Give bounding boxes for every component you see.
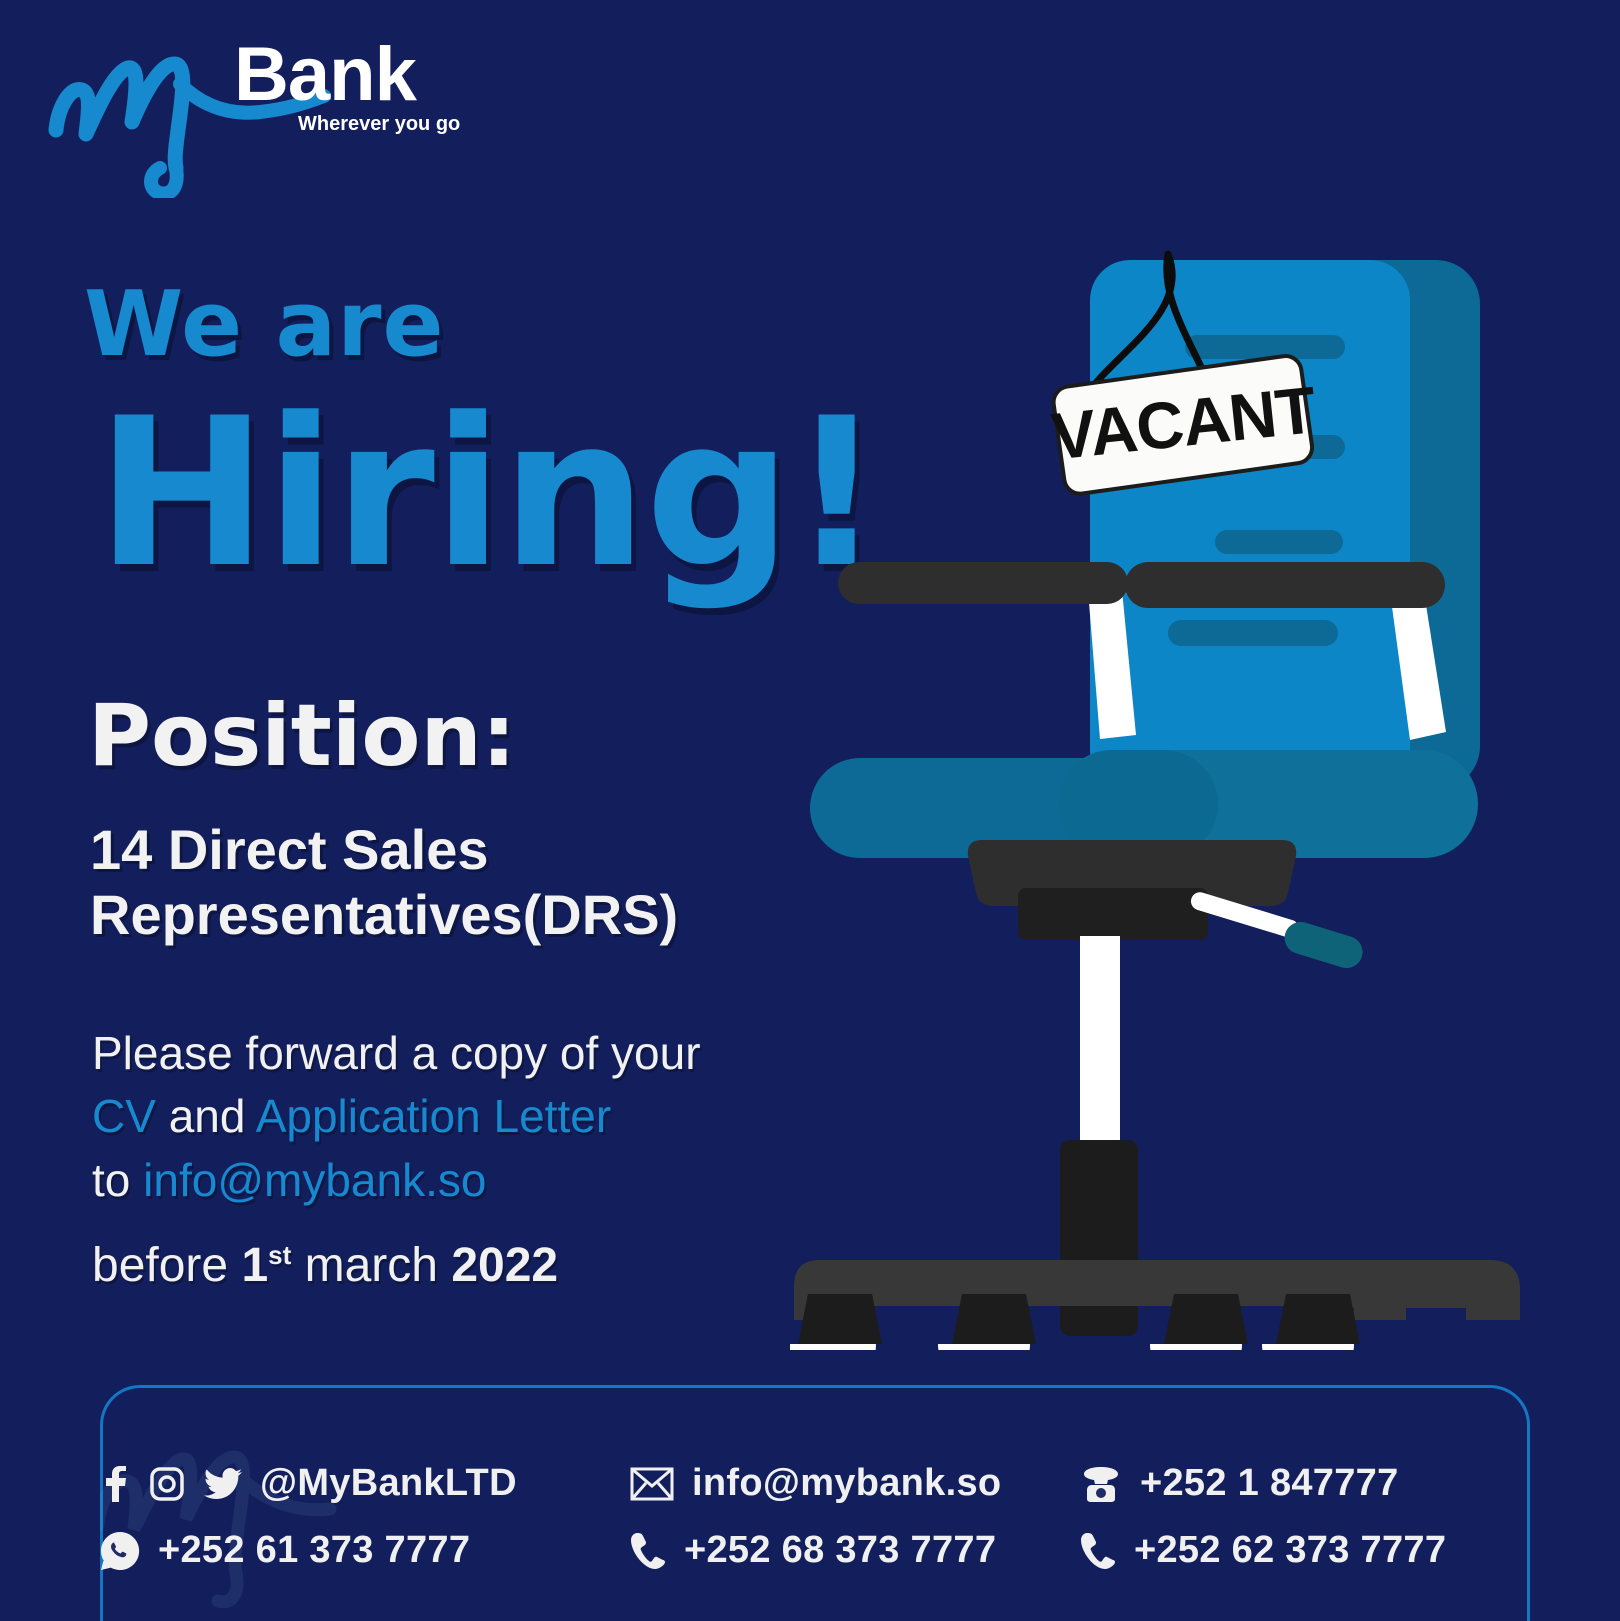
phone-row-2[interactable]: +252 62 373 7777 [1080, 1529, 1530, 1572]
facebook-icon[interactable] [100, 1466, 130, 1502]
chair-cylinder-housing [1060, 1140, 1138, 1336]
and-word: and [169, 1090, 246, 1142]
chair-armrest-right [1125, 562, 1445, 608]
phone-number-1: +252 68 373 7777 [684, 1529, 996, 1572]
chair-mechanism-block [1018, 888, 1208, 940]
desk-phone-row[interactable]: +252 1 847777 [1080, 1462, 1530, 1505]
to-word: to [92, 1154, 130, 1206]
logo-wordmark: Bank [234, 38, 418, 117]
phone-handset-icon[interactable] [1080, 1532, 1116, 1570]
desk-telephone-icon[interactable] [1080, 1465, 1122, 1503]
deadline-text: before 1st march 2022 [92, 1238, 558, 1293]
footer-column-phones: +252 1 847777 +252 62 373 7777 [1040, 1462, 1530, 1572]
office-chair-illustration: VACANT [790, 240, 1570, 1350]
chair-armrest-left [838, 562, 1128, 604]
social-icon-set [100, 1466, 242, 1502]
footer-contact-panel: @MyBankLTD +252 61 373 7777 [100, 1385, 1530, 1621]
social-handle-row[interactable]: @MyBankLTD [100, 1462, 600, 1505]
phone-number-2: +252 62 373 7777 [1134, 1529, 1446, 1572]
position-label: Position: [88, 686, 516, 786]
deadline-month: march [305, 1239, 438, 1292]
envelope-icon[interactable] [630, 1467, 674, 1501]
footer-column-social: @MyBankLTD +252 61 373 7777 [100, 1462, 600, 1572]
deadline-ordinal: st [268, 1240, 291, 1270]
footer-columns: @MyBankLTD +252 61 373 7777 [100, 1385, 1530, 1621]
email-text: info@mybank.so [692, 1462, 1001, 1505]
social-handle-text: @MyBankLTD [260, 1462, 517, 1505]
hiring-poster: Bank Wherever you go We are Hiring! Posi… [0, 0, 1620, 1621]
whatsapp-row[interactable]: +252 61 373 7777 [100, 1529, 600, 1572]
phone-row-1[interactable]: +252 68 373 7777 [630, 1529, 1040, 1572]
headline-line-1: We are [84, 272, 445, 377]
email-row[interactable]: info@mybank.so [630, 1462, 1040, 1505]
mybank-logo: Bank Wherever you go [48, 38, 468, 198]
position-value: 14 Direct Sales Representatives(DRS) [90, 818, 850, 948]
instagram-icon[interactable] [150, 1467, 184, 1501]
deadline-day: 1 [241, 1239, 268, 1292]
contact-email: info@mybank.so [143, 1154, 486, 1206]
phone-handset-icon[interactable] [630, 1532, 666, 1570]
deadline-before: before [92, 1239, 228, 1292]
whatsapp-icon[interactable] [100, 1531, 140, 1571]
footer-column-email: info@mybank.so +252 68 373 7777 [600, 1462, 1040, 1572]
instructions-line-1: Please forward a copy of your [92, 1027, 701, 1079]
deadline-year: 2022 [451, 1239, 558, 1292]
application-letter-keyword: Application Letter [256, 1090, 611, 1142]
twitter-icon[interactable] [204, 1468, 242, 1500]
cv-keyword: CV [92, 1090, 156, 1142]
headline-line-2: Hiring! [96, 392, 881, 597]
desk-phone-number: +252 1 847777 [1140, 1462, 1399, 1505]
instructions-text: Please forward a copy of your CV and App… [92, 1022, 882, 1212]
chair-base-legs [794, 1260, 1520, 1320]
whatsapp-number: +252 61 373 7777 [158, 1529, 470, 1572]
logo-tagline: Wherever you go [298, 113, 460, 135]
